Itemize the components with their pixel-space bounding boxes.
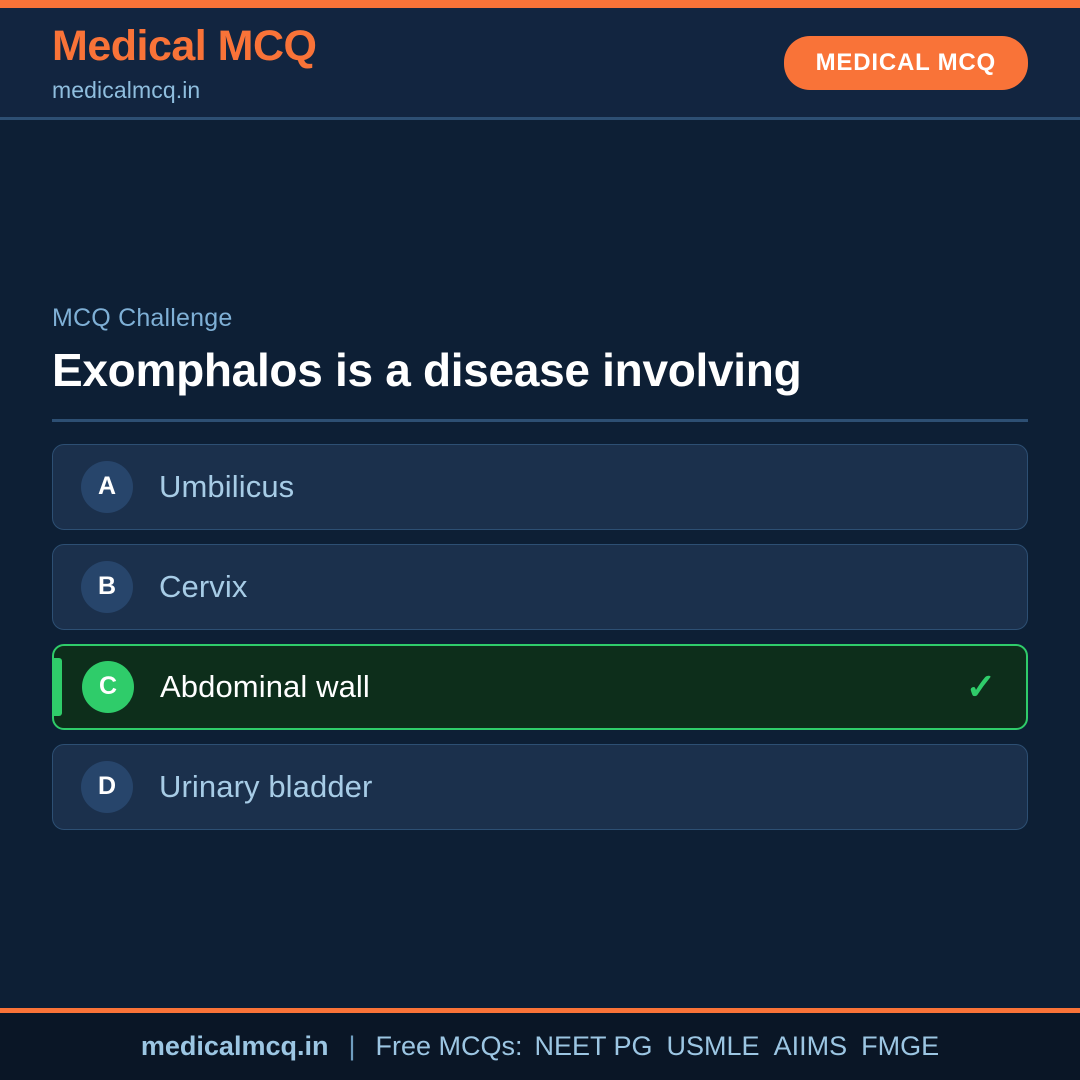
correct-accent-bar (54, 658, 62, 716)
footer-separator: | (348, 1031, 355, 1062)
option-b[interactable]: B Cervix ✓ (52, 544, 1028, 630)
top-accent-bar (0, 0, 1080, 8)
brand-title: Medical MCQ (52, 25, 317, 68)
challenge-eyebrow: MCQ Challenge (52, 306, 1028, 331)
footer-exam-aiims: AIIMS (774, 1031, 848, 1062)
option-c[interactable]: C Abdominal wall ✓ (52, 644, 1028, 730)
footer-exam-fmge: FMGE (861, 1031, 939, 1062)
check-icon: ✓ (966, 669, 996, 705)
option-d-letter: D (81, 761, 133, 813)
footer-free-mcqs-label: Free MCQs: (375, 1031, 522, 1062)
option-d-label: Urinary bladder (159, 771, 967, 802)
footer-exam-neet-pg: NEET PG (535, 1031, 653, 1062)
brand-block: Medical MCQ medicalmcq.in (52, 25, 317, 102)
footer-exam-usmle: USMLE (667, 1031, 760, 1062)
option-b-letter: B (81, 561, 133, 613)
mcq-card: Medical MCQ medicalmcq.in MEDICAL MCQ MC… (0, 0, 1080, 1080)
question-divider (52, 419, 1028, 422)
option-b-label: Cervix (159, 571, 967, 602)
option-c-letter: C (82, 661, 134, 713)
footer-site-name: medicalmcq.in (141, 1031, 329, 1062)
options-list: A Umbilicus ✓ B Cervix ✓ C Abdominal wal… (52, 444, 1028, 830)
option-a-letter: A (81, 461, 133, 513)
main-content: MCQ Challenge Exomphalos is a disease in… (0, 120, 1080, 1008)
footer-content: medicalmcq.in | Free MCQs: NEET PG USMLE… (141, 1031, 939, 1062)
option-a[interactable]: A Umbilicus ✓ (52, 444, 1028, 530)
option-c-label: Abdominal wall (160, 671, 966, 702)
header: Medical MCQ medicalmcq.in MEDICAL MCQ (0, 8, 1080, 120)
option-d[interactable]: D Urinary bladder ✓ (52, 744, 1028, 830)
brand-badge: MEDICAL MCQ (784, 36, 1028, 90)
question-text: Exomphalos is a disease involving (52, 345, 1028, 397)
option-a-label: Umbilicus (159, 471, 967, 502)
question-block: MCQ Challenge Exomphalos is a disease in… (52, 306, 1028, 830)
brand-subtitle: medicalmcq.in (52, 79, 317, 102)
footer: medicalmcq.in | Free MCQs: NEET PG USMLE… (0, 1008, 1080, 1080)
